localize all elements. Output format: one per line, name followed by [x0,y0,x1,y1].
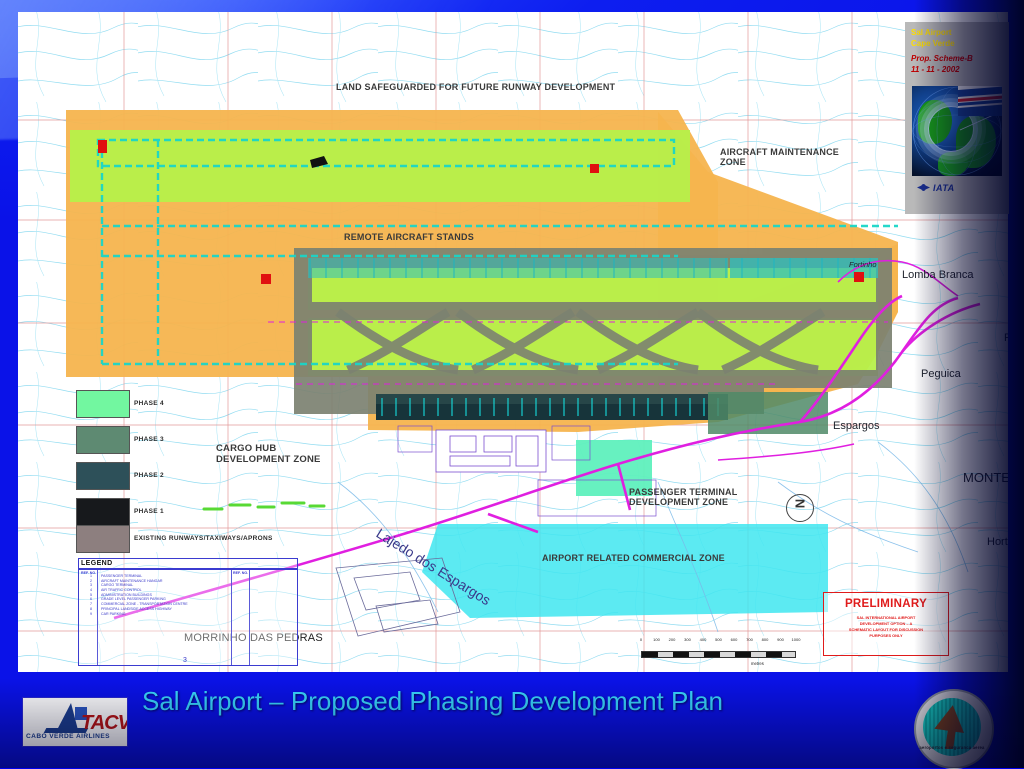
scale-tick: 100 [653,637,660,642]
phase-swatch-2 [76,462,130,490]
legend-title: LEGEND [79,559,297,570]
scale-bar-graphic [641,651,796,658]
scale-unit-label: metres [751,661,764,666]
map-label-passenger-terminal-development-zone: PASSENGER TERMINAL DEVELOPMENT ZONE [629,487,737,508]
legend-rows: 1PASSENGER TERMINAL 2AIRCRAFT MAINTENANC… [81,575,231,617]
right-edge-shadow [914,0,1024,768]
map-label-cargo-hub-development-zone: CARGO HUB DEVELOPMENT ZONE [216,444,321,466]
scale-tick: 1000 [792,637,801,642]
north-arrow-icon: N [786,494,814,522]
map-label-aircraft-maintenance-zone: AIRCRAFT MAINTENANCE ZONE [720,147,839,168]
bottom-edge-shadow [0,678,1024,768]
phase-swatch-1 [76,498,130,526]
phase-swatch-4 [76,390,130,418]
airport-development-map[interactable]: LAND SAFEGUARDED FOR FUTURE RUNWAY DEVEL… [18,12,1008,672]
phase-label-1: PHASE 1 [134,508,164,515]
scale-tick: 700 [746,637,753,642]
scale-tick: 900 [777,637,784,642]
phase-swatch-3 [76,426,130,454]
map-label-remote-aircraft-stands: REMOTE AIRCRAFT STANDS [344,232,474,242]
scale-tick: 300 [684,637,691,642]
phase-label-3: PHASE 3 [134,436,164,443]
phase-label-2: PHASE 2 [134,472,164,479]
phase-label-4: PHASE 4 [134,400,164,407]
legend-sheet-number: 3 [183,657,187,664]
scale-tick: 600 [731,637,738,642]
place-label-fortinho: Fortinho [849,260,877,269]
place-label-espargos: Espargos [833,420,879,432]
scale-tick: 400 [700,637,707,642]
phase-label-existing: EXISTING RUNWAYS/TAXIWAYS/APRONS [134,535,273,542]
legend-table[interactable]: LEGEND REF. NO. REF. NO. 1PASSENGER TERM… [78,558,298,666]
scale-tick: 200 [669,637,676,642]
map-label-airport-related-commercial-zone: AIRPORT RELATED COMMERCIAL ZONE [542,553,725,563]
scale-tick: 500 [715,637,722,642]
scale-tick: 0 [640,637,642,642]
legend-row: 9CAR PARKING [81,613,231,618]
legend-col-header-right: REF. NO. [233,571,248,575]
scale-tick: 800 [762,637,769,642]
scale-bar: 0 100 200 300 400 500 600 700 800 900 10… [623,637,813,671]
phase-swatch-existing [76,525,130,553]
slide-background: LAND SAFEGUARDED FOR FUTURE RUNWAY DEVEL… [0,0,1024,768]
map-label-safeguarded-land: LAND SAFEGUARDED FOR FUTURE RUNWAY DEVEL… [336,82,615,92]
north-arrow-label: N [793,491,808,517]
